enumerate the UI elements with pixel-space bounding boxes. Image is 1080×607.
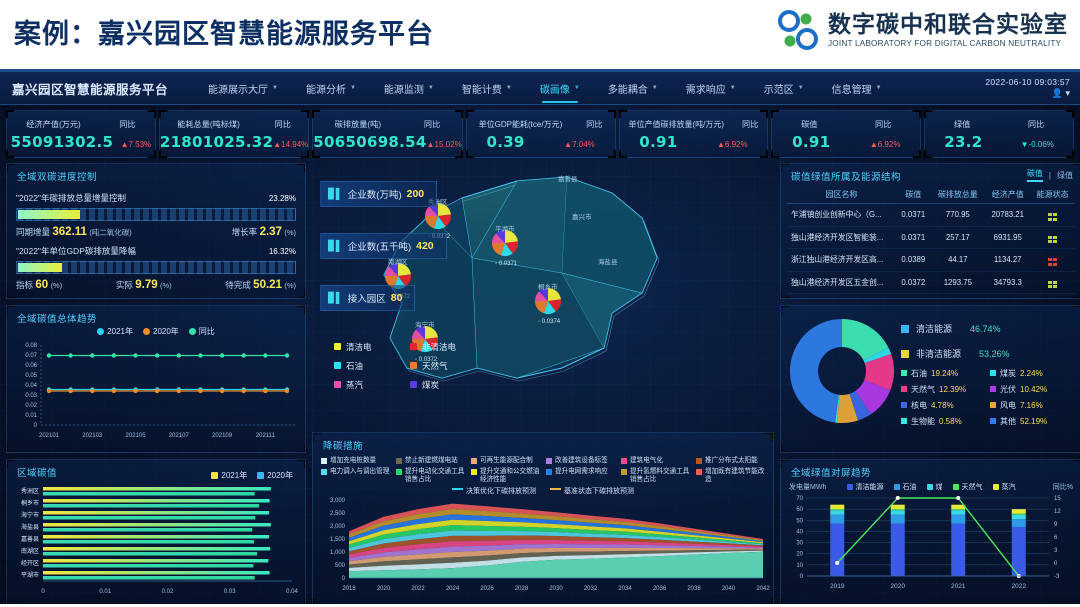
nav-item-label: 信息管理 (832, 81, 872, 96)
measure-legend-item[interactable]: 可再生能源配合制 (471, 457, 542, 465)
table-cell-carbon: 0.0389 (896, 249, 931, 272)
right-column: 碳值绿值所属及能源结构 碳值|绿值 园区名称碳值碳排放总量经济产值能源状态 乍浦… (780, 163, 1080, 604)
kpi-row: 经济产值(万元)同比55091302.5▲7.53%能耗总量(吨标煤)同比218… (0, 105, 1080, 158)
table-row[interactable]: 乍浦镇创业创新中心（G...0.0371770.9520783.21 (787, 204, 1075, 227)
svg-text:2019: 2019 (830, 583, 845, 590)
nav-item-7[interactable]: 示范区▼ (750, 72, 818, 105)
kpi-value: 55091302.5 (11, 133, 114, 151)
pie-slice-legend-item[interactable]: 风电7.16% (990, 400, 1075, 411)
panel-green-trend: 全域绿值对屏趋势 发电量MWh 同比% 清洁能源石油煤天然气蒸汽 0102030… (780, 459, 1080, 604)
panel-title-green: 全域绿值对屏趋势 (781, 460, 1080, 482)
table-header-row: 园区名称碳值碳排放总量经济产值能源状态 (787, 186, 1075, 204)
kpi-delta-label: 同比 (424, 118, 440, 130)
nav-item-3[interactable]: 智能计费▼ (448, 72, 526, 105)
status-badge (1030, 226, 1075, 249)
svg-text:2032: 2032 (584, 586, 598, 592)
map-legend-item[interactable]: 清洁电 (334, 341, 400, 353)
legend-item[interactable]: 石油 (894, 482, 917, 492)
svg-text:1,000: 1,000 (330, 550, 346, 556)
nav-item-label: 能源展示大厅 (208, 81, 268, 96)
pie-legend-slices: 石油19.24%煤炭2.24%天然气12.39%光伏10.42%核电4.78%风… (901, 368, 1075, 427)
map-legend-item[interactable]: 非清洁电 (410, 341, 476, 353)
svg-text:2028: 2028 (515, 586, 529, 592)
kpi-value: 50650698.54 (313, 133, 426, 151)
table-column-header: 经济产值 (985, 186, 1030, 204)
map-stat-value: 80 (391, 292, 403, 304)
svg-text:南湖区: 南湖区 (21, 547, 39, 555)
kpi-label: 碳排放量(吨) (335, 118, 381, 130)
svg-text:2018: 2018 (342, 586, 356, 592)
nav-item-0[interactable]: 能源展示大厅▼ (194, 72, 292, 105)
progress2-f1-label: 指标 (16, 280, 33, 290)
panel-progress-control: 全域双碳进度控制 "2022"年碳排放总量增量控制 23.28% 同期增量 36… (6, 163, 306, 299)
pager-page-1[interactable]: 1 (1019, 298, 1024, 299)
svg-text:◦ 0.0374: ◦ 0.0374 (538, 319, 561, 325)
svg-text:2,000: 2,000 (330, 524, 346, 530)
logo-text-cn: 数字碳中和联合实验室 (828, 12, 1068, 36)
svg-text:2022: 2022 (1012, 583, 1027, 590)
progress1-footer: 同期增量 362.11 (吨二氧化碳) 增长率 2.37 (%) (16, 226, 296, 238)
kpi-card-3: 单位GDP能耗(tce/万元)同比0.39▲7.04% (466, 110, 616, 158)
svg-text:70: 70 (796, 496, 803, 502)
map-panel: 嘉善县◦ 0.0372秀洲区◦ 0.0371平湖市嘉兴市◦ 0.0372南湖区◦… (312, 163, 774, 426)
green-ylabel: 发电量MWh (789, 482, 826, 492)
kpi-card-2: 碳排放量(吨)同比50650698.54▲15.02% (312, 110, 462, 158)
progress1-f2-label: 增长率 (232, 227, 258, 237)
svg-text:2024: 2024 (446, 586, 460, 592)
kpi-delta: ▲14.94% (273, 140, 308, 149)
progress1-f1-value: 362.11 (52, 226, 87, 238)
kpi-card-4: 单位产值碳排放量(吨/万元)同比0.91▲6.92% (619, 110, 769, 158)
map-stat-label: 接入园区 (348, 291, 386, 305)
svg-text:海宁市: 海宁市 (21, 511, 39, 519)
table-cell-name: 浙江独山港经济开发区高... (787, 249, 896, 272)
nav-item-label: 需求响应 (686, 81, 726, 96)
chevron-down-icon: ▼ (506, 85, 512, 91)
user-icon[interactable]: 👤 ▾ (985, 88, 1070, 99)
pie-group-pct: 53.26% (979, 349, 1010, 359)
map-stat-label: 企业数(万吨) (348, 187, 402, 201)
chevron-down-icon: ▼ (798, 85, 804, 91)
svg-text:12: 12 (1054, 509, 1061, 515)
map-stat-value: 420 (416, 240, 434, 252)
svg-text:经开区: 经开区 (21, 559, 39, 567)
svg-text:0.06: 0.06 (25, 363, 37, 369)
table-tab-1[interactable]: 绿值 (1057, 170, 1073, 181)
svg-text:2020: 2020 (377, 586, 391, 592)
kpi-label: 经济产值(万元) (26, 118, 81, 130)
progress1-pct: 23.28% (269, 194, 296, 203)
forecast-legend-item[interactable]: 基准状态下碳排放预测 (550, 486, 634, 496)
svg-text:10: 10 (796, 563, 803, 569)
pie-slice-legend-item[interactable]: 石油19.24% (901, 368, 986, 379)
region-chart: 秀洲区桐乡市海宁市海盐县嘉善县南湖区经开区平湖市00.010.020.030.0… (7, 481, 305, 601)
svg-text:桐乡市: 桐乡市 (21, 499, 39, 507)
kpi-delta-label: 同比 (875, 118, 891, 130)
svg-text:202107: 202107 (169, 433, 190, 439)
svg-text:0.03: 0.03 (25, 393, 37, 399)
kpi-value: 0.39 (486, 133, 524, 151)
kpi-card-6: 绿值同比23.2▼-0.06% (924, 110, 1074, 158)
pie-group-pct: 46.74% (970, 324, 1001, 334)
legend-item[interactable]: 煤 (927, 482, 943, 492)
nav-item-label: 智能计费 (462, 81, 502, 96)
svg-text:海宁市: 海宁市 (415, 320, 435, 329)
svg-text:15: 15 (1054, 496, 1061, 502)
svg-text:1,500: 1,500 (330, 537, 346, 543)
kpi-delta: ▲7.04% (564, 140, 595, 149)
panel-carbon-measures: 降碳措施 增加充电桩数量禁止新建燃煤电站可再生能源配合制改善建筑设备标签建筑电气… (312, 432, 774, 604)
svg-text:-3: -3 (1054, 574, 1060, 580)
map-legend-item[interactable]: 煤炭 (410, 379, 476, 391)
map-legend-item[interactable]: 天然气 (410, 360, 476, 372)
svg-text:2020: 2020 (891, 583, 906, 590)
svg-text:0: 0 (34, 423, 38, 429)
green-chart: 010203040506070-303691215201920202021202… (781, 492, 1079, 600)
dashboard: 嘉兴园区智慧能源服务平台 能源展示大厅▼能源分析▼能源监测▼智能计费▼碳画像▼多… (0, 72, 1080, 604)
table-row[interactable]: 独山港经济开发区智能装...0.0371257.176931.95 (787, 226, 1075, 249)
park-table: 园区名称碳值碳排放总量经济产值能源状态 乍浦镇创业创新中心（G...0.0371… (787, 186, 1075, 294)
table-cell-name: 乍浦镇创业创新中心（G... (787, 204, 896, 227)
svg-text:50: 50 (796, 518, 803, 524)
progress1-label: "2022"年碳排放总量增量控制 (16, 192, 126, 204)
svg-text:桐乡市: 桐乡市 (538, 282, 558, 291)
measure-legend-item[interactable]: 提升交通和公交燃油经济性能 (471, 468, 542, 484)
panel-region-carbon: 区域碳值 2021年2020年 秀洲区桐乡市海宁市海盐县嘉善县南湖区经开区平湖市… (6, 459, 306, 604)
svg-text:3: 3 (1054, 548, 1058, 554)
pie-slice-legend-item[interactable]: 天然气12.39% (901, 384, 986, 395)
progress2-f2-value: 9.79 (135, 279, 157, 291)
kpi-delta-label: 同比 (1028, 118, 1044, 130)
nav-item-label: 示范区 (764, 81, 794, 96)
panel-title-region: 区域碳值 (7, 460, 305, 482)
energy-pie-chart (783, 312, 901, 430)
svg-text:202103: 202103 (82, 433, 103, 439)
table-cell-output: 34793.3 (985, 271, 1030, 294)
svg-text:0.04: 0.04 (25, 383, 37, 389)
progress2-bar (16, 261, 296, 274)
panel-energy-structure: 清洁能源46.74%非清洁能源53.26% 石油19.24%煤炭2.24%天然气… (780, 305, 1080, 453)
svg-text:202101: 202101 (39, 433, 60, 439)
table-column-header: 能源状态 (1030, 186, 1075, 204)
svg-text:6: 6 (1054, 535, 1058, 541)
svg-text:海盐县: 海盐县 (598, 257, 618, 266)
chevron-down-icon: ▼ (350, 85, 356, 91)
table-row[interactable]: 浙江独山港经济开发区高...0.038944.171134.27 (787, 249, 1075, 272)
pie-group-label: 非清洁能源 (916, 347, 961, 360)
kpi-value: 0.91 (792, 133, 830, 151)
kpi-delta-label: 同比 (119, 118, 135, 130)
kpi-value: 21801025.32 (160, 133, 273, 151)
nav-item-1[interactable]: 能源分析▼ (292, 72, 370, 105)
table-row[interactable]: 独山港经济开发区五金创...0.03721293.7534793.3 (787, 271, 1075, 294)
measure-legend-item[interactable]: 增加既有建筑节能改造 (696, 468, 767, 484)
map-marker[interactable]: 嘉善县 (558, 174, 578, 183)
kpi-value: 0.91 (639, 133, 677, 151)
kpi-label: 单位GDP能耗(tce/万元) (479, 119, 563, 130)
svg-text:0.01: 0.01 (99, 589, 111, 595)
table-column-header: 碳排放总量 (931, 186, 986, 204)
progress2-f1-value: 60 (35, 279, 48, 291)
status-badge (1030, 204, 1075, 227)
svg-text:0: 0 (1054, 561, 1058, 567)
svg-text:0.02: 0.02 (25, 403, 37, 409)
progress1-f2-value: 2.37 (260, 226, 282, 238)
svg-text:2036: 2036 (653, 586, 667, 592)
kpi-label: 绿值 (954, 118, 970, 130)
nav-item-8[interactable]: 信息管理▼ (818, 72, 896, 105)
svg-text:2038: 2038 (687, 586, 701, 592)
kpi-delta: ▼-0.06% (1021, 140, 1054, 149)
page-title: 案例：嘉兴园区智慧能源服务平台 (14, 12, 434, 51)
svg-text:500: 500 (335, 563, 346, 569)
nav-item-5[interactable]: 多能耦合▼ (594, 72, 672, 105)
svg-text:2,500: 2,500 (330, 511, 346, 517)
measure-legend-item[interactable]: 电力调入与调出管理 (321, 468, 392, 484)
progress2-f3-label: 待完成 (225, 280, 251, 290)
progress2-f2-label: 实际 (116, 280, 133, 290)
table-tabs: 碳值|绿值 (1027, 168, 1073, 182)
pie-slice-legend-item[interactable]: 煤炭2.24% (990, 368, 1075, 379)
progress2-label: "2022"年单位GDP碳排放量降幅 (16, 245, 136, 257)
table-cell-output: 6931.95 (985, 226, 1030, 249)
panel-carbon-trend: 全域碳值总体趋势 2021年2020年同比 00.010.020.030.040… (6, 305, 306, 453)
measure-legend-item[interactable]: 提升氢燃料交通工具销售占比 (621, 468, 692, 484)
kpi-value: 23.2 (944, 133, 982, 151)
svg-text:2026: 2026 (480, 586, 494, 592)
nav-items: 能源展示大厅▼能源分析▼能源监测▼智能计费▼碳画像▼多能耦合▼需求响应▼示范区▼… (194, 72, 896, 105)
table-cell-emission: 770.95 (931, 204, 986, 227)
table-cell-output: 1134.27 (985, 249, 1030, 272)
nav-item-label: 碳画像 (540, 81, 570, 96)
kpi-card-1: 能耗总量(吨标煤)同比21801025.32▲14.94% (159, 110, 309, 158)
measure-legend-item[interactable]: 建筑电气化 (621, 457, 692, 465)
map-legend-item[interactable]: 石油 (334, 360, 400, 372)
nav-item-6[interactable]: 需求响应▼ (672, 72, 750, 105)
status-badge (1030, 271, 1075, 294)
green-y2label: 同比% (1053, 482, 1073, 492)
panel-title-trend: 全域碳值总体趋势 (7, 306, 305, 328)
progress2-f1-unit: (%) (51, 281, 63, 290)
kpi-delta: ▲7.53% (121, 140, 152, 149)
map-legend: 清洁电非清洁电石油天然气蒸汽煤炭 (334, 341, 476, 391)
svg-text:◦ 0.0371: ◦ 0.0371 (495, 261, 518, 267)
map-marker[interactable]: ◦ 0.0374桐乡市 (535, 282, 561, 325)
nav-brand: 嘉兴园区智慧能源服务平台 (12, 79, 168, 98)
tab-divider: | (1049, 171, 1051, 180)
kpi-delta: ▲6.92% (717, 140, 748, 149)
svg-text:平湖市: 平湖市 (495, 224, 515, 233)
dashboard-body: 全域双碳进度控制 "2022"年碳排放总量增量控制 23.28% 同期增量 36… (0, 158, 1080, 601)
map-stat-button-1[interactable]: ▊▌企业数(五千吨)420 (320, 233, 447, 259)
bar-chart-icon: ▊▌ (328, 189, 343, 200)
svg-text:0: 0 (342, 576, 346, 582)
logo-icon (776, 8, 820, 52)
kpi-card-5: 碳值同比0.91▲6.92% (771, 110, 921, 158)
table-pager: ‹1234› (787, 294, 1075, 299)
svg-text:嘉善县: 嘉善县 (558, 174, 578, 183)
chevron-down-icon: ▼ (730, 85, 736, 91)
svg-text:2042: 2042 (756, 586, 770, 592)
svg-text:0.08: 0.08 (25, 343, 37, 349)
panel-park-table: 碳值绿值所属及能源结构 碳值|绿值 园区名称碳值碳排放总量经济产值能源状态 乍浦… (780, 163, 1080, 299)
legend-item[interactable]: 蒸汽 (993, 482, 1016, 492)
table-cell-carbon: 0.0371 (896, 204, 931, 227)
left-column: 全域双碳进度控制 "2022"年碳排放总量增量控制 23.28% 同期增量 36… (6, 163, 306, 604)
svg-text:40: 40 (796, 529, 803, 535)
svg-text:平湖市: 平湖市 (21, 571, 39, 579)
svg-text:202105: 202105 (126, 433, 147, 439)
measure-legend-item[interactable]: 提升电网需求响应 (546, 468, 617, 484)
measures-chart: 05001,0001,5002,0002,5003,00020182020202… (313, 496, 771, 599)
legend-item[interactable]: 清洁能源 (847, 482, 884, 492)
kpi-delta: ▲15.02% (427, 140, 462, 149)
kpi-label: 能耗总量(吨标煤) (177, 118, 240, 130)
measure-legend-item[interactable]: 提升电动化交通工具销售占比 (396, 468, 467, 484)
map-stat-button-2[interactable]: ▊▌接入园区80 (320, 285, 415, 311)
svg-text:2034: 2034 (618, 586, 632, 592)
table-tab-0[interactable]: 碳值 (1027, 168, 1043, 182)
forecast-legend-item[interactable]: 决策优化下碳排放预测 (452, 486, 536, 496)
chevron-down-icon: ▼ (876, 85, 882, 91)
bar-chart-icon: ▊▌ (328, 241, 343, 252)
svg-text:0: 0 (41, 589, 45, 595)
pager-prev[interactable]: ‹ (1009, 298, 1012, 299)
progress1-bar (16, 208, 296, 221)
kpi-delta: ▲6.92% (870, 140, 901, 149)
pager-next[interactable]: › (1066, 298, 1069, 299)
chevron-down-icon: ▼ (272, 85, 278, 91)
svg-text:3,000: 3,000 (330, 498, 346, 504)
svg-text:202109: 202109 (212, 433, 233, 439)
progress2-f3-value: 50.21 (253, 279, 282, 291)
svg-text:9: 9 (1054, 522, 1058, 528)
nav-item-label: 多能耦合 (608, 81, 648, 96)
chevron-down-icon: ▼ (428, 85, 434, 91)
kpi-label: 碳值 (801, 118, 817, 130)
datetime-label: 2022-06-10 09:03:57 (985, 77, 1070, 87)
pie-group-label: 清洁能源 (916, 322, 952, 335)
svg-text:2040: 2040 (722, 586, 736, 592)
progress2-footer: 指标 60 (%) 实际 9.79 (%) 待完成 50.21 (%) (16, 279, 296, 291)
svg-text:海盐县: 海盐县 (21, 523, 39, 531)
pie-slice-legend-item[interactable]: 生物能0.58% (901, 416, 986, 427)
svg-text:0.01: 0.01 (25, 413, 37, 419)
kpi-delta-label: 同比 (275, 118, 291, 130)
svg-text:30: 30 (796, 541, 803, 547)
table-column-header: 园区名称 (787, 186, 896, 204)
chevron-down-icon: ▼ (652, 85, 658, 91)
panel-title-progress: 全域双碳进度控制 (7, 164, 305, 186)
table-cell-carbon: 0.0372 (896, 271, 931, 294)
pager-page-3[interactable]: 3 (1043, 298, 1048, 299)
map-stat-value: 200 (407, 188, 425, 200)
svg-text:0.02: 0.02 (162, 589, 174, 595)
pie-slice-legend-item[interactable]: 核电4.78% (901, 400, 986, 411)
nav-right: 2022-06-10 09:03:57 👤 ▾ (985, 77, 1070, 99)
svg-text:嘉善县: 嘉善县 (21, 535, 39, 543)
svg-text:60: 60 (796, 507, 803, 513)
table-cell-carbon: 0.0371 (896, 226, 931, 249)
map-legend-item[interactable]: 蒸汽 (334, 379, 400, 391)
table-cell-output: 20783.21 (985, 204, 1030, 227)
svg-text:2030: 2030 (549, 586, 563, 592)
svg-text:2022: 2022 (411, 586, 425, 592)
pie-slice-legend-item[interactable]: 光伏10.42% (990, 384, 1075, 395)
logo-text-en: JOINT LABORATORY FOR DIGITAL CARBON NEUT… (828, 39, 1068, 48)
nav-item-2[interactable]: 能源监测▼ (370, 72, 448, 105)
table-cell-name: 独山港经济开发区五金创... (787, 271, 896, 294)
pager-page-4[interactable]: 4 (1054, 298, 1059, 299)
map-stat-label: 企业数(五千吨) (348, 239, 411, 253)
pager-page-2[interactable]: 2 (1031, 298, 1036, 299)
navbar: 嘉兴园区智慧能源服务平台 能源展示大厅▼能源分析▼能源监测▼智能计费▼碳画像▼多… (0, 72, 1080, 105)
kpi-card-0: 经济产值(万元)同比55091302.5▲7.53% (6, 110, 156, 158)
trend-chart: 00.010.020.030.040.050.060.070.082021012… (7, 337, 305, 449)
map-marker[interactable]: ◦ 0.0371平湖市 (492, 224, 518, 267)
progress2-pct: 16.32% (269, 247, 296, 256)
progress1-f1-unit: (吨二氧化碳) (89, 228, 132, 237)
table-cell-emission: 44.17 (931, 249, 986, 272)
forecast-legend: 决策优化下碳排放预测基准状态下碳排放预测 (313, 486, 773, 496)
svg-text:0: 0 (800, 574, 804, 580)
status-badge (1030, 249, 1075, 272)
nav-item-label: 能源监测 (384, 81, 424, 96)
map-stat-button-0[interactable]: ▊▌企业数(万吨)200 (320, 181, 437, 207)
legend-item[interactable]: 天然气 (953, 482, 983, 492)
pie-legend-groups: 清洁能源46.74%非清洁能源53.26% (901, 322, 1075, 360)
progress2-f3-unit: (%) (284, 281, 296, 290)
svg-text:202111: 202111 (256, 433, 276, 439)
table-cell-emission: 1293.75 (931, 271, 986, 294)
kpi-label: 单位产值碳排放量(吨/万元) (629, 119, 725, 130)
svg-text:秀洲区: 秀洲区 (21, 487, 39, 495)
table-column-header: 碳值 (896, 186, 931, 204)
measure-legend-item[interactable]: 增加充电桩数量 (321, 457, 392, 465)
measure-legend-item[interactable]: 推广分布式太阳能 (696, 457, 767, 465)
progress2-f2-unit: (%) (160, 281, 172, 290)
svg-text:20: 20 (796, 552, 803, 558)
progress1-f2-unit: (%) (284, 228, 296, 237)
chevron-down-icon: ▼ (574, 85, 580, 91)
pie-group-legend-item[interactable]: 清洁能源46.74% (901, 322, 1075, 335)
progress1-f1-label: 同期增量 (16, 227, 50, 237)
center-column: 嘉善县◦ 0.0372秀洲区◦ 0.0371平湖市嘉兴市◦ 0.0372南湖区◦… (312, 163, 774, 604)
map-marker[interactable]: 海盐县 (598, 257, 618, 266)
kpi-delta-label: 同比 (586, 118, 602, 130)
measure-legend-item[interactable]: 禁止新建燃煤电站 (396, 457, 467, 465)
slide-header: 案例：嘉兴园区智慧能源服务平台 数字碳中和联合实验室 JOINT LABORAT… (0, 0, 1080, 72)
svg-text:2021: 2021 (951, 583, 966, 590)
map-marker[interactable]: 嘉兴市 (572, 212, 592, 221)
bar-chart-icon: ▊▌ (328, 293, 343, 304)
table-cell-name: 独山港经济开发区智能装... (787, 226, 896, 249)
svg-text:0.03: 0.03 (224, 589, 236, 595)
pie-group-legend-item[interactable]: 非清洁能源53.26% (901, 347, 1075, 360)
pie-slice-legend-item[interactable]: 其他52.19% (990, 416, 1075, 427)
table-cell-emission: 257.17 (931, 226, 986, 249)
nav-item-4[interactable]: 碳画像▼ (526, 72, 594, 105)
pie-slice[interactable] (790, 319, 842, 423)
nav-item-label: 能源分析 (306, 81, 346, 96)
measure-legend: 增加充电桩数量禁止新建燃煤电站可再生能源配合制改善建筑设备标签建筑电气化推广分布… (313, 455, 773, 485)
panel-title-measures: 降碳措施 (313, 433, 773, 455)
kpi-delta-label: 同比 (742, 118, 758, 130)
svg-text:0.07: 0.07 (25, 353, 37, 359)
measure-legend-item[interactable]: 改善建筑设备标签 (546, 457, 617, 465)
svg-text:0.05: 0.05 (25, 373, 37, 379)
svg-text:0.04: 0.04 (286, 589, 298, 595)
